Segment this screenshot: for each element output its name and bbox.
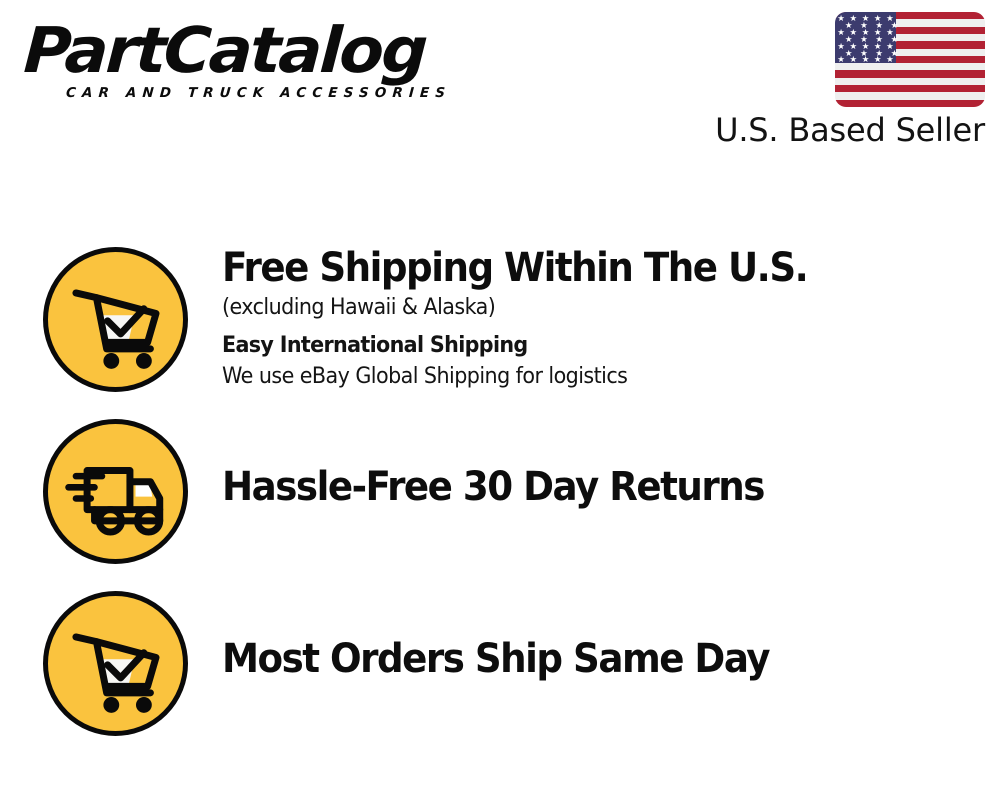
brand-wordmark: PartCatalog — [22, 18, 510, 84]
page-header: PartCatalog CAR AND TRUCK ACCESSORIES ★★… — [0, 0, 1000, 175]
benefit-subtitle-international: Easy International Shipping — [222, 331, 880, 361]
benefit-text-block: Most Orders Ship Same Day — [222, 584, 922, 734]
benefit-title: Hassle-Free 30 Day Returns — [222, 463, 873, 511]
shopping-cart-check-icon — [43, 591, 188, 736]
benefit-row: Hassle-Free 30 Day Returns — [0, 412, 1000, 562]
delivery-truck-icon — [43, 419, 188, 564]
benefit-subtitle-logistics: We use eBay Global Shipping for logistic… — [222, 361, 880, 392]
benefit-row: Free Shipping Within The U.S. (excluding… — [0, 240, 1000, 390]
us-based-seller-label: U.S. Based Seller — [715, 111, 985, 149]
benefit-text-block: Hassle-Free 30 Day Returns — [222, 412, 922, 562]
shopping-cart-check-icon — [43, 247, 188, 392]
us-flag-icon: ★★★★★ ★★★★ ★★★★★ ★★★★ ★★★★★ ★★★★ ★★★★★ — [835, 12, 985, 107]
brand-tagline: CAR AND TRUCK ACCESSORIES — [23, 85, 494, 101]
benefit-subtitle-exclusion: (excluding Hawaii & Alaska) — [222, 292, 880, 323]
benefit-title: Most Orders Ship Same Day — [222, 635, 873, 683]
benefit-title: Free Shipping Within The U.S. — [222, 244, 873, 292]
benefit-text-block: Free Shipping Within The U.S. (excluding… — [222, 244, 922, 392]
brand-logo[interactable]: PartCatalog CAR AND TRUCK ACCESSORIES — [24, 18, 494, 101]
us-based-seller-badge: ★★★★★ ★★★★ ★★★★★ ★★★★ ★★★★★ ★★★★ ★★★★★ U… — [715, 12, 985, 149]
benefit-row: Most Orders Ship Same Day — [0, 584, 1000, 734]
